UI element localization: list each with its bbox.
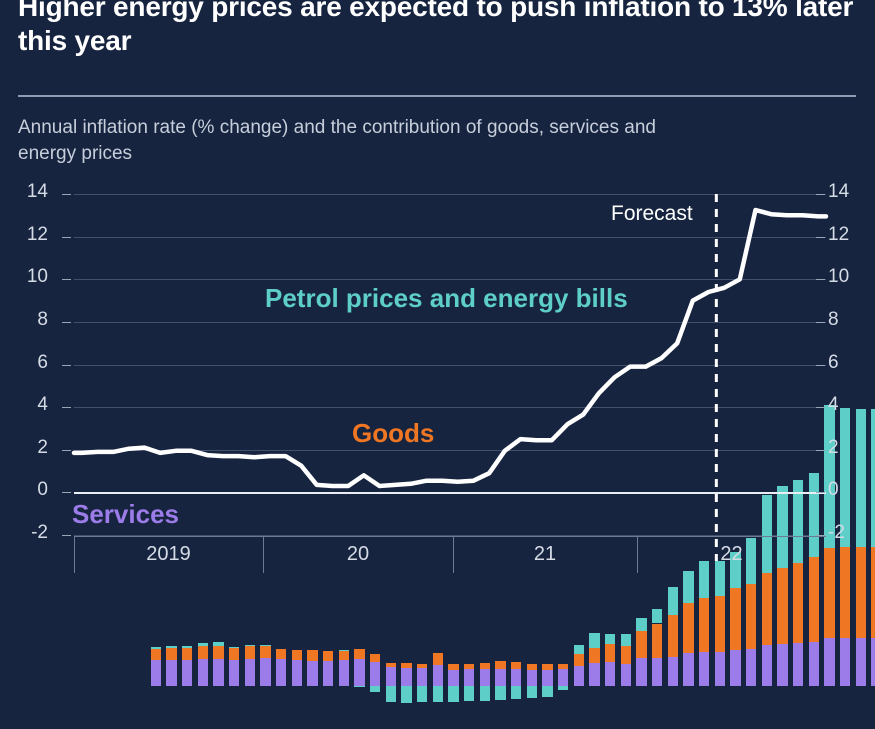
bar-segment-services <box>652 658 662 687</box>
bar-segment-goods <box>730 588 740 650</box>
bar-segment-goods <box>229 648 239 660</box>
bar-segment-services <box>401 668 411 686</box>
bar-segment-energy <box>417 686 427 702</box>
bar-segment-services <box>495 669 505 686</box>
bar-segment-services <box>605 662 615 687</box>
bar-segment-goods <box>151 649 161 660</box>
y-axis-tick <box>816 492 825 493</box>
y-axis-tick-label: 10 <box>828 266 872 288</box>
bar-segment-energy <box>668 587 678 615</box>
bar-segment-services <box>762 645 772 687</box>
bar-segment-goods <box>621 646 631 664</box>
bar-segment-goods <box>683 603 693 653</box>
y-axis-tick <box>62 450 71 451</box>
bar-segment-energy <box>198 643 208 646</box>
bar-segment-services <box>715 652 725 686</box>
bar-segment-services <box>809 642 819 687</box>
bar-segment-goods <box>777 568 787 644</box>
bar-segment-goods <box>401 663 411 668</box>
bar-segment-services <box>668 657 678 687</box>
bar-segment-goods <box>715 596 725 652</box>
bar-segment-services <box>151 660 161 687</box>
bar-segment-goods <box>245 646 255 659</box>
bar-segment-goods <box>417 664 427 668</box>
bar-segment-services <box>417 668 427 686</box>
y-axis-tick <box>62 322 71 323</box>
bar-segment-services <box>589 663 599 686</box>
x-axis-tick-label: 20 <box>263 543 453 566</box>
bar-segment-energy <box>448 686 458 702</box>
bar-segment-goods <box>746 584 756 649</box>
x-axis-tick-label: 21 <box>453 543 637 566</box>
x-axis-tick-label: 22 <box>637 543 826 566</box>
y-axis-tick-label: 2 <box>4 437 48 459</box>
bar-segment-services <box>558 669 568 686</box>
y-axis-tick <box>62 237 71 238</box>
bar-segment-energy <box>151 647 161 649</box>
bar-segment-services <box>840 638 850 686</box>
bar-segment-goods <box>480 663 490 669</box>
bar-column <box>871 388 875 729</box>
bar-segment-energy <box>213 642 223 646</box>
bar-segment-goods <box>840 547 850 639</box>
y-axis-tick <box>816 450 825 451</box>
bar-segment-services <box>323 661 333 687</box>
bar-segment-goods <box>558 664 568 669</box>
bar-segment-energy <box>511 686 521 699</box>
bar-segment-services <box>292 660 302 687</box>
plot-area <box>74 194 826 535</box>
y-axis-tick-label: 0 <box>828 479 872 501</box>
bar-segment-energy <box>605 634 615 644</box>
bar-segment-energy <box>542 686 552 697</box>
bar-segment-energy <box>433 686 443 702</box>
bar-segment-energy <box>260 645 270 646</box>
y-axis-tick-label: 12 <box>4 224 48 246</box>
bar-segment-energy <box>480 686 490 701</box>
bar-segment-energy <box>166 646 176 648</box>
bar-segment-energy <box>464 686 474 701</box>
zero-line <box>74 492 826 494</box>
bar-segment-goods <box>323 651 333 661</box>
bar-segment-services <box>542 670 552 686</box>
inflation-stacked-bar-chart: 1414121210108866442200-2-2 2019202122 Pe… <box>0 0 875 573</box>
bar-segment-energy <box>574 645 584 655</box>
legend-label-goods: Goods <box>352 418 434 449</box>
bar-segment-goods <box>433 653 443 665</box>
bar-segment-services <box>386 667 396 686</box>
y-axis-tick <box>816 237 825 238</box>
bar-segment-energy <box>386 686 396 702</box>
y-axis-tick-label: -2 <box>828 522 872 544</box>
gridline <box>74 365 826 366</box>
bar-segment-goods <box>495 661 505 670</box>
bar-segment-goods <box>762 573 772 644</box>
y-axis-tick-label: 4 <box>828 394 872 416</box>
y-axis-tick <box>816 407 825 408</box>
bar-segment-goods <box>652 624 662 658</box>
bar-segment-services <box>354 659 364 687</box>
bar-segment-services <box>182 660 192 687</box>
bar-segment-services <box>276 659 286 687</box>
bar-segment-energy <box>636 618 646 631</box>
bar-segment-energy <box>339 650 349 651</box>
y-axis-tick <box>816 194 825 195</box>
bar-segment-energy <box>589 633 599 648</box>
bar-segment-services <box>636 658 646 687</box>
bar-segment-services <box>856 638 866 686</box>
bar-segment-energy <box>871 409 875 546</box>
forecast-label: Forecast <box>611 202 693 226</box>
bar-segment-services <box>260 658 270 687</box>
bar-segment-goods <box>292 650 302 660</box>
bar-segment-energy <box>527 686 537 698</box>
bar-segment-services <box>213 659 223 687</box>
bar-segment-services <box>339 660 349 687</box>
bar-segment-goods <box>370 654 380 661</box>
bar-segment-goods <box>448 664 458 670</box>
bar-segment-goods <box>636 631 646 658</box>
bar-segment-energy <box>229 647 239 648</box>
bar-segment-energy <box>370 686 380 691</box>
bar-segment-energy <box>245 645 255 646</box>
y-axis-tick <box>816 365 825 366</box>
y-axis-tick-label: 6 <box>828 352 872 374</box>
bar-segment-energy <box>354 686 364 687</box>
bar-segment-energy <box>401 686 411 703</box>
bar-segment-goods <box>668 615 678 657</box>
bar-segment-goods <box>339 651 349 660</box>
bar-segment-services <box>621 664 631 686</box>
bar-segment-goods <box>856 547 866 639</box>
y-axis-tick-label: 12 <box>828 224 872 246</box>
y-axis-tick-label: 8 <box>4 309 48 331</box>
gridline <box>74 237 826 238</box>
bar-segment-goods <box>354 649 364 659</box>
bar-segment-goods <box>464 664 474 669</box>
bar-segment-goods <box>605 644 615 662</box>
y-axis-tick-label: 6 <box>4 352 48 374</box>
bar-segment-goods <box>511 662 521 669</box>
y-axis-tick <box>62 365 71 366</box>
y-axis-tick-label: 14 <box>4 181 48 203</box>
bar-segment-services <box>448 670 458 686</box>
bar-segment-goods <box>198 646 208 659</box>
bar-segment-goods <box>182 648 192 660</box>
y-axis-tick <box>62 279 71 280</box>
y-axis-tick-label: 0 <box>4 479 48 501</box>
bar-segment-goods <box>166 648 176 660</box>
bar-segment-services <box>824 638 834 686</box>
y-axis-tick <box>62 407 71 408</box>
bar-segment-services <box>746 649 756 686</box>
y-axis-tick-label: 14 <box>828 181 872 203</box>
y-axis-tick <box>816 322 825 323</box>
legend-label-energy: Petrol prices and energy bills <box>265 283 628 314</box>
bar-segment-goods <box>213 646 223 659</box>
legend-label-services: Services <box>72 499 179 530</box>
bar-segment-services <box>699 652 709 686</box>
bar-segment-goods <box>699 598 709 652</box>
bar-segment-services <box>464 669 474 686</box>
gridline <box>74 194 826 195</box>
bar-segment-goods <box>260 646 270 658</box>
bar-segment-goods <box>871 547 875 639</box>
bar-segment-goods <box>574 654 584 666</box>
y-axis-tick <box>816 279 825 280</box>
bar-segment-goods <box>276 649 286 659</box>
bar-segment-services <box>480 669 490 686</box>
bar-segment-energy <box>652 609 662 624</box>
y-axis-tick-label: 8 <box>828 309 872 331</box>
y-axis-tick-label: -2 <box>4 522 48 544</box>
x-axis-tick-label: 2019 <box>74 543 263 566</box>
bar-segment-goods <box>307 650 317 661</box>
bar-segment-services <box>229 660 239 687</box>
bar-segment-services <box>307 661 317 687</box>
bar-segment-services <box>166 660 176 687</box>
bar-segment-energy <box>182 646 192 648</box>
bar-segment-services <box>527 670 537 686</box>
bar-segment-services <box>793 643 803 687</box>
y-axis-tick <box>62 535 71 536</box>
gridline <box>74 279 826 280</box>
bar-segment-services <box>777 644 787 687</box>
bar-segment-goods <box>542 664 552 670</box>
bar-segment-services <box>683 653 693 686</box>
bar-segment-goods <box>527 664 537 670</box>
x-axis: 2019202122 <box>74 537 826 573</box>
y-axis-tick-label: 4 <box>4 394 48 416</box>
bar-segment-services <box>245 659 255 687</box>
bar-segment-goods <box>793 563 803 643</box>
bar-segment-energy <box>683 571 693 603</box>
bar-segment-energy <box>558 686 568 689</box>
y-axis-tick-label: 10 <box>4 266 48 288</box>
bar-segment-services <box>433 665 443 686</box>
bar-segment-services <box>511 669 521 686</box>
gridline <box>74 322 826 323</box>
bar-segment-services <box>871 638 875 686</box>
bar-segment-services <box>370 662 380 687</box>
y-axis-tick <box>62 194 71 195</box>
bar-segment-goods <box>386 663 396 667</box>
bar-segment-energy <box>495 686 505 700</box>
bar-segment-services <box>198 659 208 687</box>
y-axis-tick <box>62 492 71 493</box>
bar-segment-goods <box>589 648 599 663</box>
bar-segment-services <box>574 666 584 686</box>
y-axis-tick-label: 2 <box>828 437 872 459</box>
bar-segment-energy <box>621 634 631 646</box>
bar-segment-services <box>730 650 740 686</box>
